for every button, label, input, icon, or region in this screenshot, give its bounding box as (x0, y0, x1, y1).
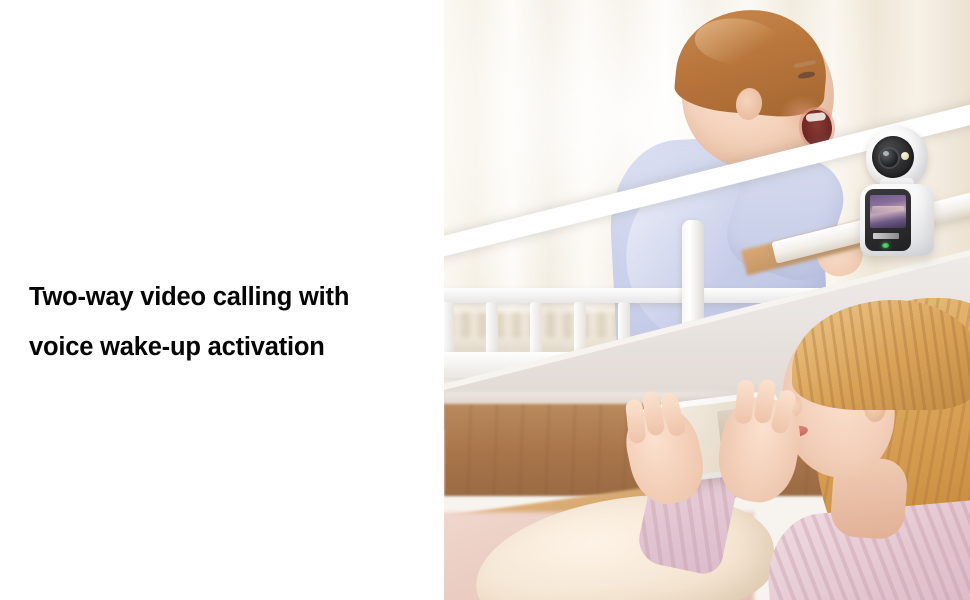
crib-slat (574, 302, 586, 354)
finger (734, 379, 755, 424)
camera-lens-icon (880, 149, 898, 167)
page-title: Two-way video calling with voice wake-up… (29, 272, 429, 372)
copy-block: Two-way video calling with voice wake-up… (29, 272, 429, 372)
product-lifestyle-photo: Mama I'll right back home 15 mins. (444, 0, 970, 600)
camera-brand-logo (873, 233, 899, 239)
crib-slat (530, 302, 542, 354)
camera-lens-module (872, 136, 914, 178)
crib-top-rail (444, 288, 824, 303)
camera-body (860, 184, 934, 256)
camera-front-panel (865, 189, 911, 251)
promo-banner: Two-way video calling with voice wake-up… (0, 0, 970, 600)
camera-status-led (882, 243, 889, 248)
camera-display-screen (870, 195, 906, 228)
camera-ir-sensor-icon (901, 152, 909, 160)
crib-slat (444, 302, 454, 354)
baby-monitor-camera (852, 126, 938, 256)
crib-slat (486, 302, 498, 354)
mother-hair-front (792, 300, 970, 410)
